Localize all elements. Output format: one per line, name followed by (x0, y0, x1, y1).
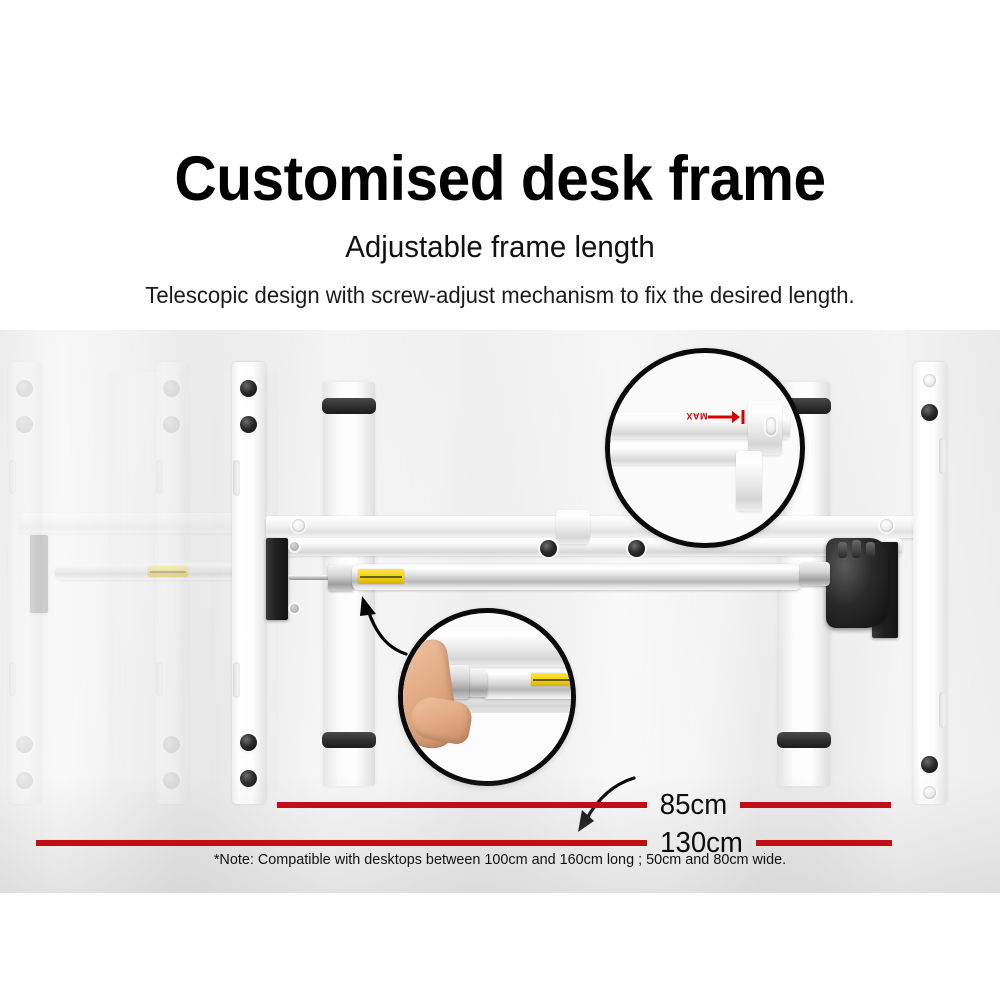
callout-hole-icon (766, 417, 776, 435)
ghost-leg-2 (155, 362, 189, 804)
bracket-bolt (290, 542, 299, 551)
callout-screw-adjust (398, 608, 576, 786)
gearbox-knob (852, 540, 861, 558)
measure-85cm: 85cm (277, 788, 891, 822)
callout-max-image: MAX (610, 353, 800, 543)
ghost-bolt (16, 416, 33, 433)
telescopic-beam-inner-rail (282, 538, 902, 556)
adjust-slot (233, 662, 240, 698)
ghost-slot (9, 662, 16, 696)
callout-end-cap-stem (736, 451, 762, 511)
mount-hole-icon (923, 374, 936, 387)
ghost-bolt (163, 736, 180, 753)
bolt-icon (240, 770, 257, 787)
bolt-icon (240, 734, 257, 751)
infographic-page: Customised desk frame Adjustable frame l… (0, 0, 1000, 1000)
adjust-slot (233, 460, 240, 496)
motor-collar (800, 562, 830, 586)
max-marker-text: MAX (686, 411, 708, 421)
ghost-bolt (16, 380, 33, 397)
ghost-warning-label (148, 566, 188, 577)
callout-end-cap (748, 401, 782, 455)
beam-hole-right (880, 519, 893, 532)
callout-max-marker: MAX (605, 348, 805, 548)
callout-warning-label (531, 673, 576, 686)
ghost-bolt (163, 416, 180, 433)
mount-hole-icon (923, 786, 936, 799)
measure-line-right (756, 840, 892, 846)
telescopic-beam-top (266, 516, 916, 538)
adjust-screw-shaft (288, 575, 330, 580)
ghost-slot (9, 460, 16, 494)
page-tagline: Telescopic design with screw-adjust mech… (20, 284, 980, 307)
measure-value: 85cm (649, 791, 737, 820)
ghost-slot (156, 460, 163, 494)
adjust-slot (939, 692, 946, 728)
compatibility-note: *Note: Compatible with desktops between … (20, 851, 980, 868)
measure-line-left (277, 802, 647, 808)
bolt-icon (921, 756, 938, 773)
ghost-bolt (16, 736, 33, 753)
page-subtitle: Adjustable frame length (25, 231, 975, 262)
bracket-bolt (290, 604, 299, 613)
ghost-bolt (163, 380, 180, 397)
inner-mount-bracket (266, 538, 288, 620)
measure-line-right (740, 802, 891, 808)
warning-label (358, 569, 404, 584)
foot-pad-top-left (322, 398, 376, 414)
beam-bolt-left (540, 540, 557, 557)
ghost-bolt (163, 772, 180, 789)
callout-screw-pointer-arrow-icon (344, 592, 424, 662)
beam-hole-left (292, 519, 305, 532)
ghost-bolt (16, 772, 33, 789)
bolt-icon (240, 416, 257, 433)
adjust-slot (939, 438, 946, 474)
telescopic-tube (352, 564, 802, 590)
foot-pad-bottom-right (777, 732, 831, 748)
beam-join-cap (556, 510, 590, 544)
foot-pad-bottom-left (322, 732, 376, 748)
left-leg-bracket (232, 362, 266, 804)
bolt-icon (921, 404, 938, 421)
measure-line-left (36, 840, 647, 846)
gearbox-knob (838, 542, 847, 558)
gearbox-knob (866, 542, 875, 558)
page-title: Customised desk frame (35, 148, 965, 211)
max-marker-arrow-icon (706, 409, 746, 425)
max-marker-label: MAX (686, 411, 708, 421)
adjust-nut (328, 565, 354, 591)
callout-screw-image (403, 613, 571, 781)
right-leg-bracket (913, 362, 947, 804)
bolt-icon (240, 380, 257, 397)
ghost-slot (156, 662, 163, 696)
ghost-inner-bracket (30, 535, 48, 613)
